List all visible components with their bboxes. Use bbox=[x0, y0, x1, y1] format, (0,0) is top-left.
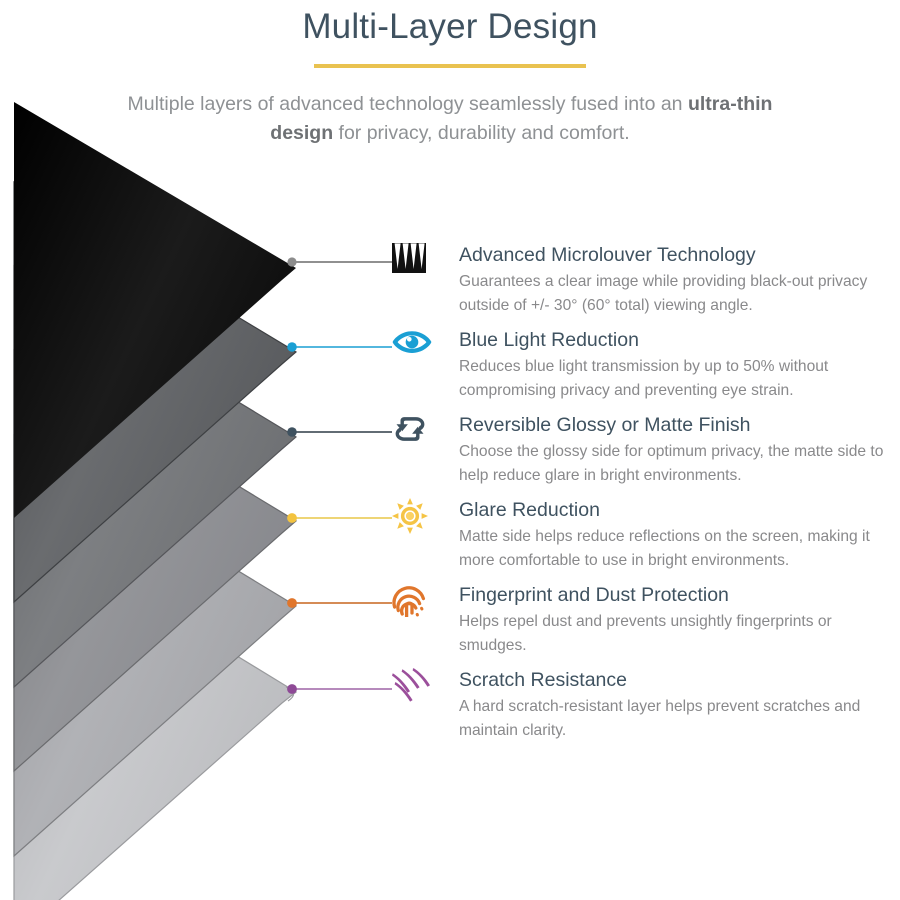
feature-title: Advanced Microlouver Technology bbox=[459, 243, 900, 268]
feature-description: Choose the glossy side for optimum priva… bbox=[459, 440, 895, 487]
feature-item-blue-light: Blue Light Reduction Reduces blue light … bbox=[392, 328, 900, 413]
feature-title: Glare Reduction bbox=[459, 498, 900, 523]
feature-item-glare: Glare Reduction Matte side helps reduce … bbox=[392, 498, 900, 583]
leader-line-microlouver bbox=[287, 257, 392, 266]
feature-description: A hard scratch-resistant layer helps pre… bbox=[459, 695, 895, 742]
feature-text: Reversible Glossy or Matte Finish Choose… bbox=[459, 413, 900, 487]
scratch-icon bbox=[392, 668, 444, 710]
title-underline-rule bbox=[314, 64, 586, 68]
feature-item-scratch: Scratch Resistance A hard scratch-resist… bbox=[392, 668, 900, 753]
feature-item-microlouver: Advanced Microlouver Technology Guarante… bbox=[392, 243, 900, 328]
feature-title: Blue Light Reduction bbox=[459, 328, 900, 353]
feature-title: Reversible Glossy or Matte Finish bbox=[459, 413, 900, 438]
feature-list: Advanced Microlouver Technology Guarante… bbox=[392, 243, 900, 753]
leader-line-glare bbox=[287, 513, 392, 523]
feature-description: Matte side helps reduce reflections on t… bbox=[459, 525, 895, 572]
feature-text: Scratch Resistance A hard scratch-resist… bbox=[459, 668, 900, 742]
subtitle-part-1: Multiple layers of advanced technology s… bbox=[128, 93, 688, 115]
reverse-arrows-icon bbox=[392, 413, 444, 455]
feature-description: Reduces blue light transmission by up to… bbox=[459, 355, 895, 402]
feature-title: Fingerprint and Dust Protection bbox=[459, 583, 900, 608]
infographic-page: Multi-Layer Design Multiple layers of ad… bbox=[0, 0, 900, 900]
page-title: Multi-Layer Design bbox=[0, 5, 900, 49]
fingerprint-icon bbox=[392, 583, 444, 625]
feature-description: Guarantees a clear image while providing… bbox=[459, 270, 895, 317]
feature-text: Blue Light Reduction Reduces blue light … bbox=[459, 328, 900, 402]
sun-icon bbox=[392, 498, 444, 540]
eye-icon bbox=[392, 328, 444, 370]
microlouver-icon bbox=[392, 243, 444, 285]
leader-line-bluelight bbox=[287, 342, 392, 352]
feature-text: Advanced Microlouver Technology Guarante… bbox=[459, 243, 900, 317]
feature-title: Scratch Resistance bbox=[459, 668, 900, 693]
leader-line-fingerprint bbox=[287, 598, 392, 608]
subtitle-part-2: for privacy, durability and comfort. bbox=[333, 122, 630, 144]
leader-line-scratch bbox=[287, 684, 392, 694]
feature-item-reversible: Reversible Glossy or Matte Finish Choose… bbox=[392, 413, 900, 498]
header: Multi-Layer Design Multiple layers of ad… bbox=[0, 0, 900, 148]
feature-item-fingerprint: Fingerprint and Dust Protection Helps re… bbox=[392, 583, 900, 668]
feature-description: Helps repel dust and prevents unsightly … bbox=[459, 610, 895, 657]
subtitle: Multiple layers of advanced technology s… bbox=[120, 90, 780, 148]
leader-line-reversible bbox=[287, 427, 392, 437]
feature-text: Fingerprint and Dust Protection Helps re… bbox=[459, 583, 900, 657]
feature-text: Glare Reduction Matte side helps reduce … bbox=[459, 498, 900, 572]
